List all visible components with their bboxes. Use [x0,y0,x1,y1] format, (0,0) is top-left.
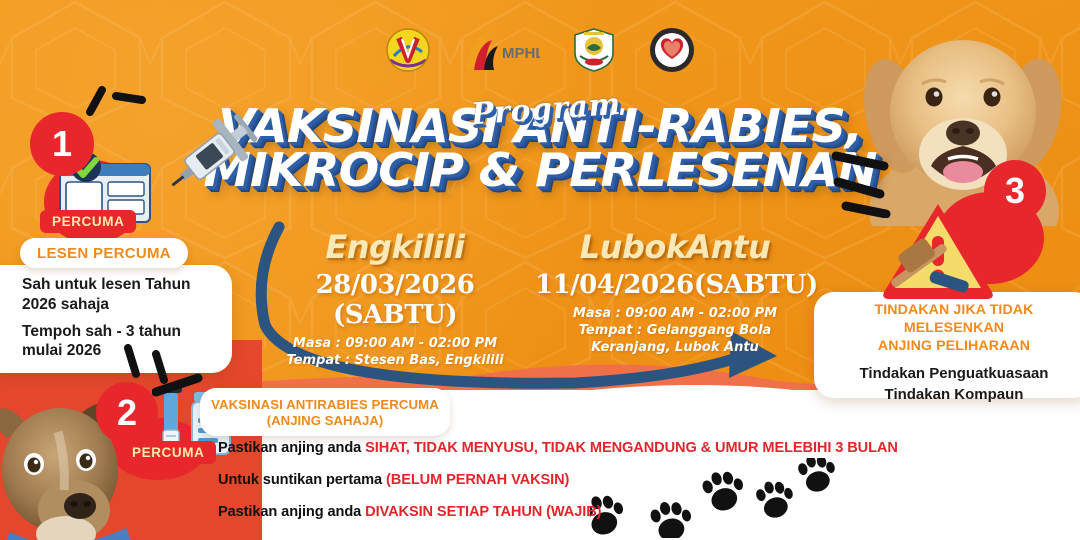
scribble-mark-icon [832,148,912,218]
bullet-plain-text: Pastikan anjing anda [218,504,365,520]
step-badge-2: 2 [96,382,158,444]
bullet-item: Pastikan anjing anda SIHAT, TIDAK MENYUS… [218,440,898,456]
scribble-mark-icon [86,86,146,132]
step-badge-3: 3 [984,160,1046,222]
lesen-percuma-label: LESEN PERCUMA [37,245,171,262]
event-city: LubokAntu [535,228,815,266]
mphlg-logo: MPHLG [462,26,540,74]
enforcement-body-line-1: Tindakan Penguatkuasaan [814,364,1080,384]
bullet-highlight-text: (BELUM PERNAH VAKSIN) [386,472,569,488]
bullet-plain-text: Untuk suntikan pertama [218,472,386,488]
event-date: 28/03/2026 (SABTU) [255,270,535,330]
logo-row: MPHLG [0,26,1080,74]
vaksinasi-antirabies-pill: VAKSINASI ANTIRABIES PERCUMA (ANJING SAH… [200,388,450,436]
sarawak-veterinary-logo [384,26,432,74]
bullet-plain-text: Pastikan anjing anda [218,440,365,456]
license-line-3: Tempoh sah - 3 tahun [22,322,216,342]
vaccination-bullet-list: Pastikan anjing anda SIHAT, TIDAK MENYUS… [218,440,898,536]
event-venue: Tempat : Gelanggang Bola [535,323,815,340]
license-line-2: 2026 sahaja [22,295,216,315]
bullet-item: Pastikan anjing anda DIVAKSIN SETIAP TAH… [218,504,898,520]
lesen-percuma-pill: LESEN PERCUMA [20,238,188,268]
step-badge-1: 1 [30,112,94,176]
event-date: 11/04/2026(SABTU) [535,270,815,300]
license-line-1: Sah untuk lesen Tahun [22,275,216,295]
license-info-card: Sah untuk lesen Tahun 2026 sahaja Tempoh… [0,265,232,373]
vaksinasi-pill-line-1: VAKSINASI ANTIRABIES PERCUMA [211,397,439,412]
enforcement-info-card: TINDAKAN JIKA TIDAK MELESENKAN ANJING PE… [814,292,1080,398]
event-card-lubokantu: LubokAntu 11/04/2026(SABTU) Masa : 09:00… [535,228,815,370]
percuma-tag-vaccination: PERCUMA [120,441,216,464]
heart-health-logo [648,26,696,74]
event-venue: Tempat : Stesen Bas, Engkilili [255,353,535,370]
event-venue-cont: Keranjang, Lubok Antu [535,340,815,357]
event-list: Engkilili 28/03/2026 (SABTU) Masa : 09:0… [255,228,815,370]
poster-canvas: MPHLG Program VAKSINASI A [0,0,1080,540]
event-time: Masa : 09:00 AM - 02:00 PM [535,306,815,323]
enforcement-head-line-2: ANJING PELIHARAAN [826,338,1080,356]
vaksinasi-pill-line-2: (ANJING SAHAJA) [267,413,384,428]
council-crest-logo [570,26,618,74]
bullet-highlight-text: SIHAT, TIDAK MENYUSU, TIDAK MENGANDUNG &… [365,440,898,456]
bullet-highlight-text: DIVAKSIN SETIAP TAHUN (WAJIB) [365,504,601,520]
event-card-engkilili: Engkilili 28/03/2026 (SABTU) Masa : 09:0… [255,228,535,370]
event-time: Masa : 09:00 AM - 02:00 PM [255,336,535,353]
svg-text:MPHLG: MPHLG [502,45,540,62]
scribble-mark-icon [152,372,204,402]
percuma-tag-license: PERCUMA [40,210,136,233]
enforcement-body-line-2: Tindakan Kompaun [814,385,1080,405]
enforcement-head-line-1: TINDAKAN JIKA TIDAK MELESENKAN [826,302,1080,338]
event-city: Engkilili [255,228,535,266]
bullet-item: Untuk suntikan pertama (BELUM PERNAH VAK… [218,472,898,488]
